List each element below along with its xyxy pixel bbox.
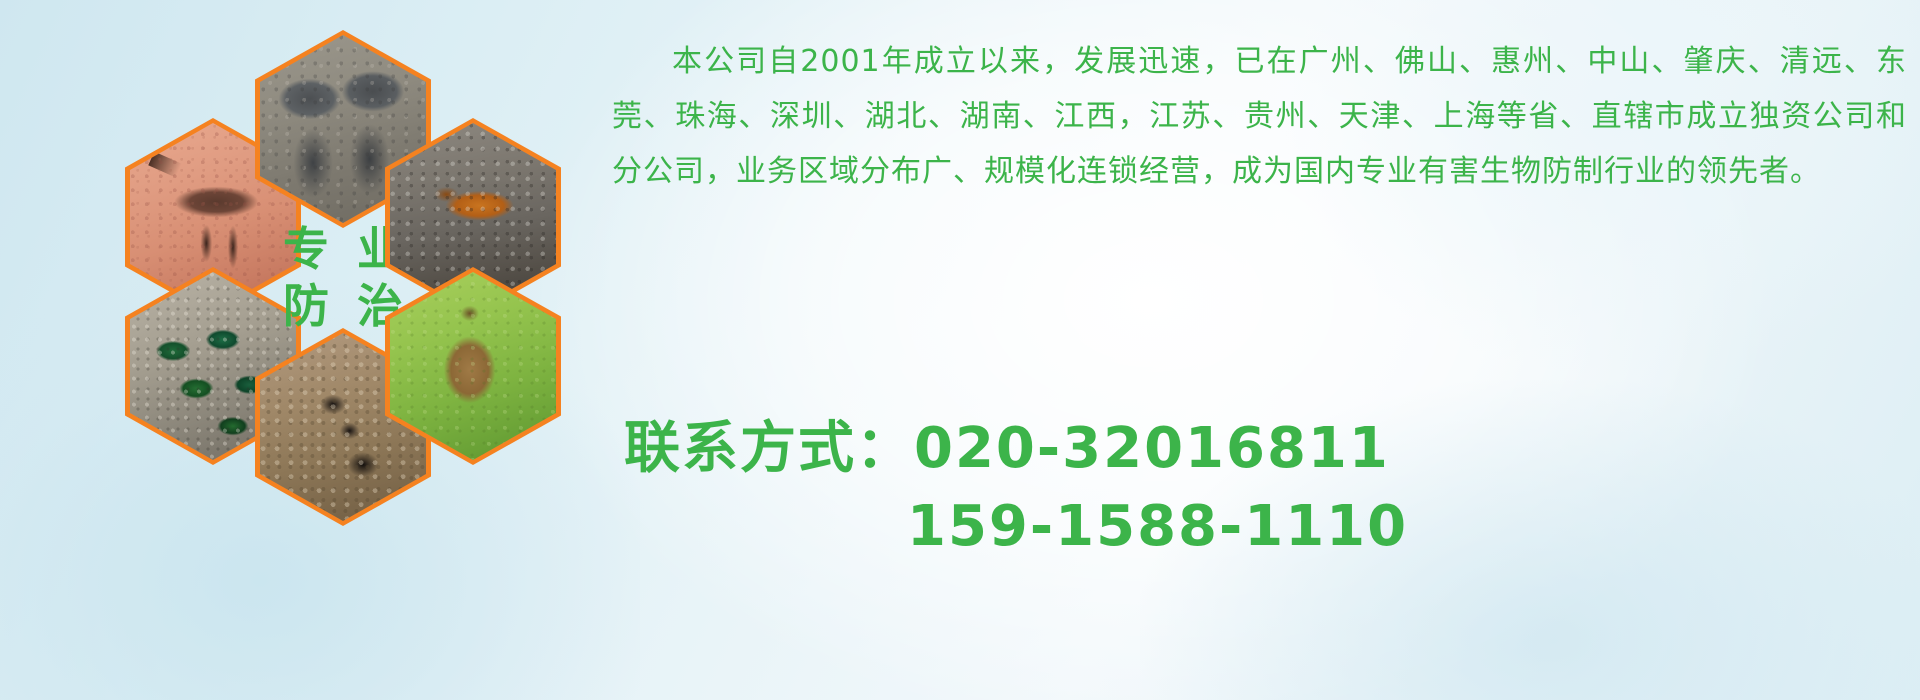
hexagon-photo-cluster: 专 业 防 治 [95, 10, 595, 570]
stinkbug-image [390, 272, 556, 460]
promo-banner: 专 业 防 治 本公司自2001年成立以来，发展迅速，已在广州、佛山、惠州、中山… [0, 0, 1920, 700]
contact-line-primary[interactable]: 联系方式：020-32016811 [624, 410, 1408, 488]
copy-column: 本公司自2001年成立以来，发展迅速，已在广州、佛山、惠州、中山、肇庆、清远、东… [612, 34, 1912, 199]
company-intro-paragraph: 本公司自2001年成立以来，发展迅速，已在广州、佛山、惠州、中山、肇庆、清远、东… [612, 34, 1907, 199]
contact-line-secondary[interactable]: 159-1588-1110 [624, 488, 1408, 566]
contact-block: 联系方式：020-32016811 159-1588-1110 [624, 410, 1408, 566]
stinkbug-photo [390, 272, 556, 460]
